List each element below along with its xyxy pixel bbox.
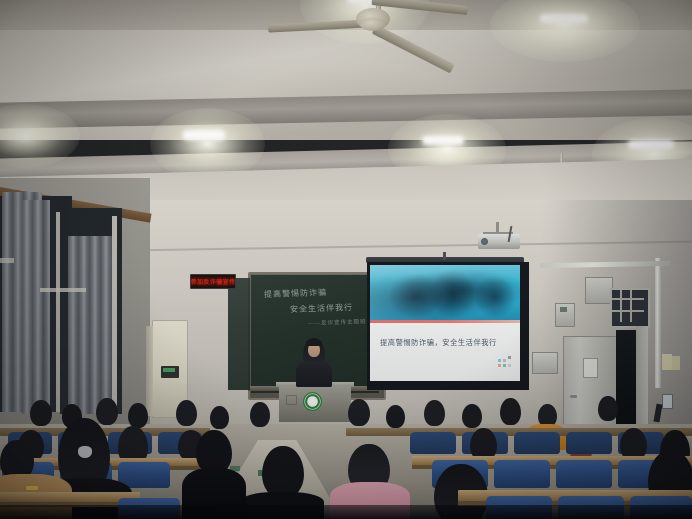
slide-corner-square-4 bbox=[498, 364, 501, 367]
ceiling-light-3 bbox=[183, 130, 225, 140]
air-conditioner-display bbox=[163, 368, 175, 372]
chair-far-7[interactable] bbox=[514, 432, 560, 454]
window-rail-strip bbox=[0, 258, 14, 263]
doorway-dark-gap bbox=[616, 330, 636, 426]
audience-head-f4 bbox=[128, 403, 148, 428]
window-bar-h2 bbox=[612, 310, 644, 312]
wrist-band bbox=[26, 486, 38, 490]
exit-door-handle[interactable] bbox=[570, 395, 577, 398]
security-camera bbox=[168, 268, 176, 274]
speaker-hair-front bbox=[306, 339, 322, 346]
curtain-panel-3 bbox=[68, 236, 112, 414]
projection-screen: 提高警惕防诈骗，安全生活伴我行 bbox=[370, 265, 520, 381]
podium-logo-left bbox=[286, 395, 297, 405]
audience-head-f10 bbox=[424, 400, 445, 426]
slide-corner-square-2 bbox=[503, 359, 506, 362]
projector-lens bbox=[481, 238, 488, 245]
exit-door-window bbox=[583, 358, 598, 378]
ceiling-light-5 bbox=[628, 140, 674, 149]
ceiling-fan-1-housing bbox=[360, 18, 386, 31]
window-bar-h1 bbox=[612, 298, 644, 300]
ceiling-light-4 bbox=[422, 136, 464, 145]
slide-body: 提高警惕防诈骗，安全生活伴我行 bbox=[370, 323, 520, 381]
audience-head-phone-user bbox=[598, 396, 618, 421]
window-mullion-vertical bbox=[56, 212, 60, 412]
face-mask bbox=[78, 446, 92, 458]
audience-head-f5 bbox=[176, 400, 197, 426]
curtain-panel-2 bbox=[22, 200, 50, 414]
audience-head-f7 bbox=[250, 402, 270, 427]
slide-corner-square-1 bbox=[498, 359, 501, 362]
slide-photo-band bbox=[370, 265, 520, 320]
audience-head-f11 bbox=[462, 404, 482, 428]
led-sign: 欢迎参加反诈骗宣传讲座 bbox=[190, 274, 236, 289]
window-frame-edge bbox=[112, 216, 117, 416]
ceiling-light-2 bbox=[540, 14, 588, 23]
audience-head-f1 bbox=[30, 400, 52, 426]
electrical-box-large[interactable] bbox=[585, 277, 613, 304]
screen-hanger bbox=[443, 252, 446, 260]
chair-far-5[interactable] bbox=[410, 432, 456, 454]
blackboard-line-1: 提高警惕防诈骗 bbox=[264, 287, 327, 300]
university-emblem bbox=[303, 392, 322, 411]
raised-phone bbox=[662, 394, 673, 409]
audience-head-f9 bbox=[386, 405, 405, 428]
blackboard-line-2: 安全生活伴我行 bbox=[290, 302, 353, 315]
audience-head-f3 bbox=[96, 398, 118, 425]
projection-screen-frame: 提高警惕防诈骗，安全生活伴我行 bbox=[367, 262, 529, 390]
air-conditioner-side bbox=[146, 326, 153, 416]
audience-head-f12 bbox=[500, 398, 521, 425]
slide-corner-square-5 bbox=[503, 364, 506, 367]
slide-corner-square-6 bbox=[508, 364, 511, 367]
wall-notice-paper bbox=[662, 354, 672, 370]
wall-pipe-vertical bbox=[655, 258, 661, 388]
audience-head-f6 bbox=[210, 406, 229, 429]
window-bar-v2 bbox=[630, 290, 632, 322]
ceiling-light-glow-3 bbox=[150, 108, 265, 180]
slide-photo-highlight bbox=[370, 265, 520, 283]
audience-head-fg-center bbox=[262, 446, 304, 498]
electrical-box-low[interactable] bbox=[532, 352, 558, 374]
chair-far-8[interactable] bbox=[566, 432, 612, 454]
wall-notice-paper-2 bbox=[672, 356, 680, 370]
window-bar-v1 bbox=[620, 290, 622, 322]
blackboard-left-panel bbox=[228, 278, 250, 390]
audience-head-f8 bbox=[348, 399, 370, 426]
electrical-box-small-window bbox=[560, 307, 567, 312]
slide-title: 提高警惕防诈骗，安全生活伴我行 bbox=[380, 338, 497, 348]
led-sign-text: 欢迎参加反诈骗宣传讲座 bbox=[190, 277, 236, 286]
door-jamb bbox=[636, 326, 648, 426]
slide-corner-square-3 bbox=[508, 356, 511, 359]
speaker-body bbox=[296, 361, 332, 387]
chair-mid-5[interactable] bbox=[494, 460, 550, 488]
foreground-shadow bbox=[0, 505, 692, 519]
classroom-photo: 提高警惕防诈骗 安全生活伴我行 ——反诈宣传主题班会 欢迎参加反诈骗宣传讲座 提… bbox=[0, 0, 692, 519]
chair-mid-6[interactable] bbox=[556, 460, 612, 488]
window-mullion-horizontal bbox=[40, 288, 86, 292]
